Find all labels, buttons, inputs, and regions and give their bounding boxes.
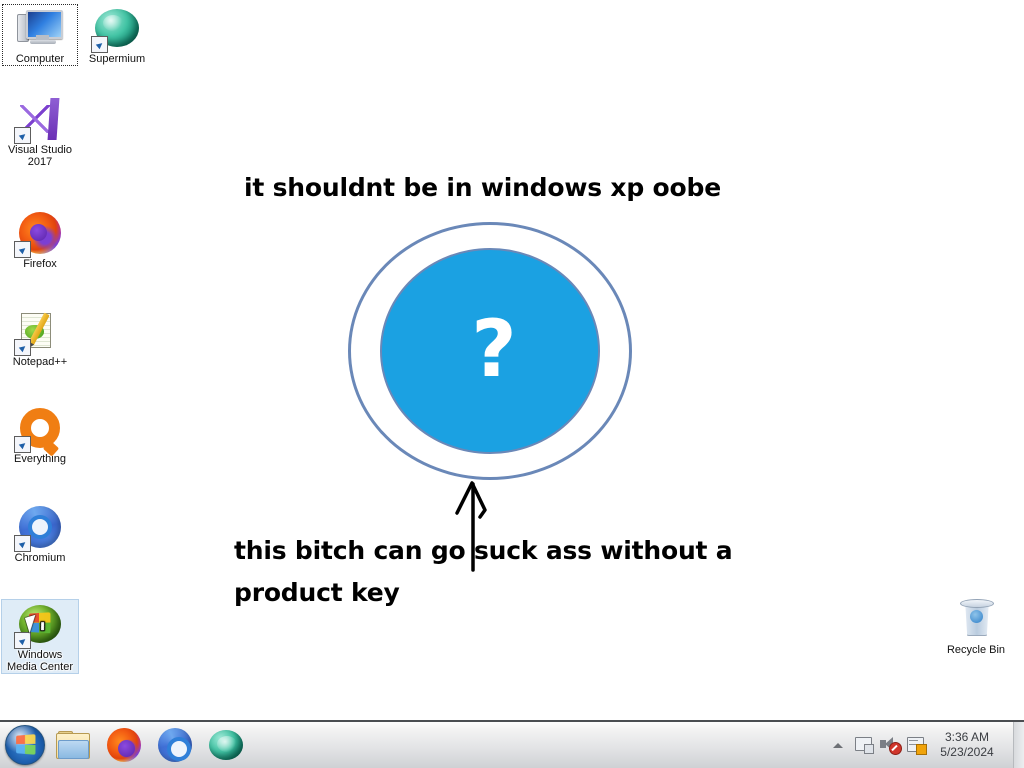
taskbar-clock[interactable]: 3:36 AM 5/23/2024 [929,730,1005,760]
shortcut-arrow-icon [14,241,31,258]
visual-studio-icon [16,95,64,143]
notepad-plus-plus-icon [16,307,64,355]
desktop-icon-firefox[interactable]: Firefox [2,209,78,271]
annotation-top-text: it shouldnt be in windows xp oobe [244,173,721,202]
clock-date: 5/23/2024 [929,745,1005,760]
supermium-icon [209,730,243,760]
desktop-icon-windows-media-center[interactable]: Windows Media Center [2,600,78,673]
action-center-icon [907,737,926,754]
taskbar-item-chromium[interactable] [152,725,198,765]
shortcut-arrow-icon [14,436,31,453]
shortcut-arrow-icon [14,632,31,649]
desktop-icon-label: Supermium [79,54,155,66]
volume-tray-icon[interactable] [877,730,903,760]
desktop-icon-label: Computer [2,54,78,66]
firefox-icon [107,728,141,762]
everything-icon [16,404,64,452]
shortcut-arrow-icon [14,339,31,356]
action-center-tray-icon[interactable] [903,730,929,760]
desktop-icon-computer[interactable]: Computer [2,4,78,66]
taskbar-item-firefox[interactable] [101,725,147,765]
computer-icon [16,4,64,52]
show-desktop-button[interactable] [1013,722,1024,768]
desktop-icon-everything[interactable]: Everything [2,404,78,466]
chromium-icon [16,503,64,551]
windows-media-center-icon [16,600,64,648]
show-hidden-icons-button[interactable] [825,730,851,760]
desktop-icon-label: Firefox [2,259,78,271]
taskbar-item-file-explorer[interactable] [50,725,96,765]
file-explorer-icon [56,731,90,759]
desktop-icon-label: Everything [2,454,78,466]
desktop-surface[interactable]: Computer Supermium Visual Studio 2017 Fi… [0,0,1024,722]
taskbar-item-supermium[interactable] [203,725,249,765]
desktop-icon-label: Visual Studio 2017 [2,145,78,168]
chevron-up-icon [833,743,843,748]
firefox-icon [16,209,64,257]
shortcut-arrow-icon [14,127,31,144]
oobe-question-badge: ? [348,222,632,480]
badge-inner-circle: ? [380,248,600,454]
desktop-icon-chromium[interactable]: Chromium [2,503,78,565]
supermium-icon [93,4,141,52]
start-button[interactable] [5,725,45,765]
desktop-icon-notepad-plus-plus[interactable]: Notepad++ [2,307,78,369]
desktop-icon-label: Chromium [2,553,78,565]
desktop-icon-recycle-bin[interactable]: Recycle Bin [938,595,1014,657]
volume-muted-icon [880,736,901,754]
recycle-bin-icon [952,595,1000,643]
windows-logo-icon [16,734,35,755]
network-icon [855,737,874,754]
chromium-icon [158,728,192,762]
desktop-icon-visual-studio-2017[interactable]: Visual Studio 2017 [2,95,78,168]
clock-time: 3:36 AM [929,730,1005,745]
desktop-icon-label: Recycle Bin [938,645,1014,657]
taskbar[interactable]: 3:36 AM 5/23/2024 [0,720,1024,768]
annotation-bottom-text: this bitch can go suck ass without a pro… [234,530,794,614]
system-tray[interactable]: 3:36 AM 5/23/2024 [825,722,1024,768]
shortcut-arrow-icon [14,535,31,552]
shortcut-arrow-icon [91,36,108,53]
desktop-icon-label: Windows Media Center [2,650,78,673]
network-tray-icon[interactable] [851,730,877,760]
question-mark-glyph: ? [471,311,516,389]
desktop-icon-label: Notepad++ [2,357,78,369]
desktop-icon-supermium[interactable]: Supermium [79,4,155,66]
